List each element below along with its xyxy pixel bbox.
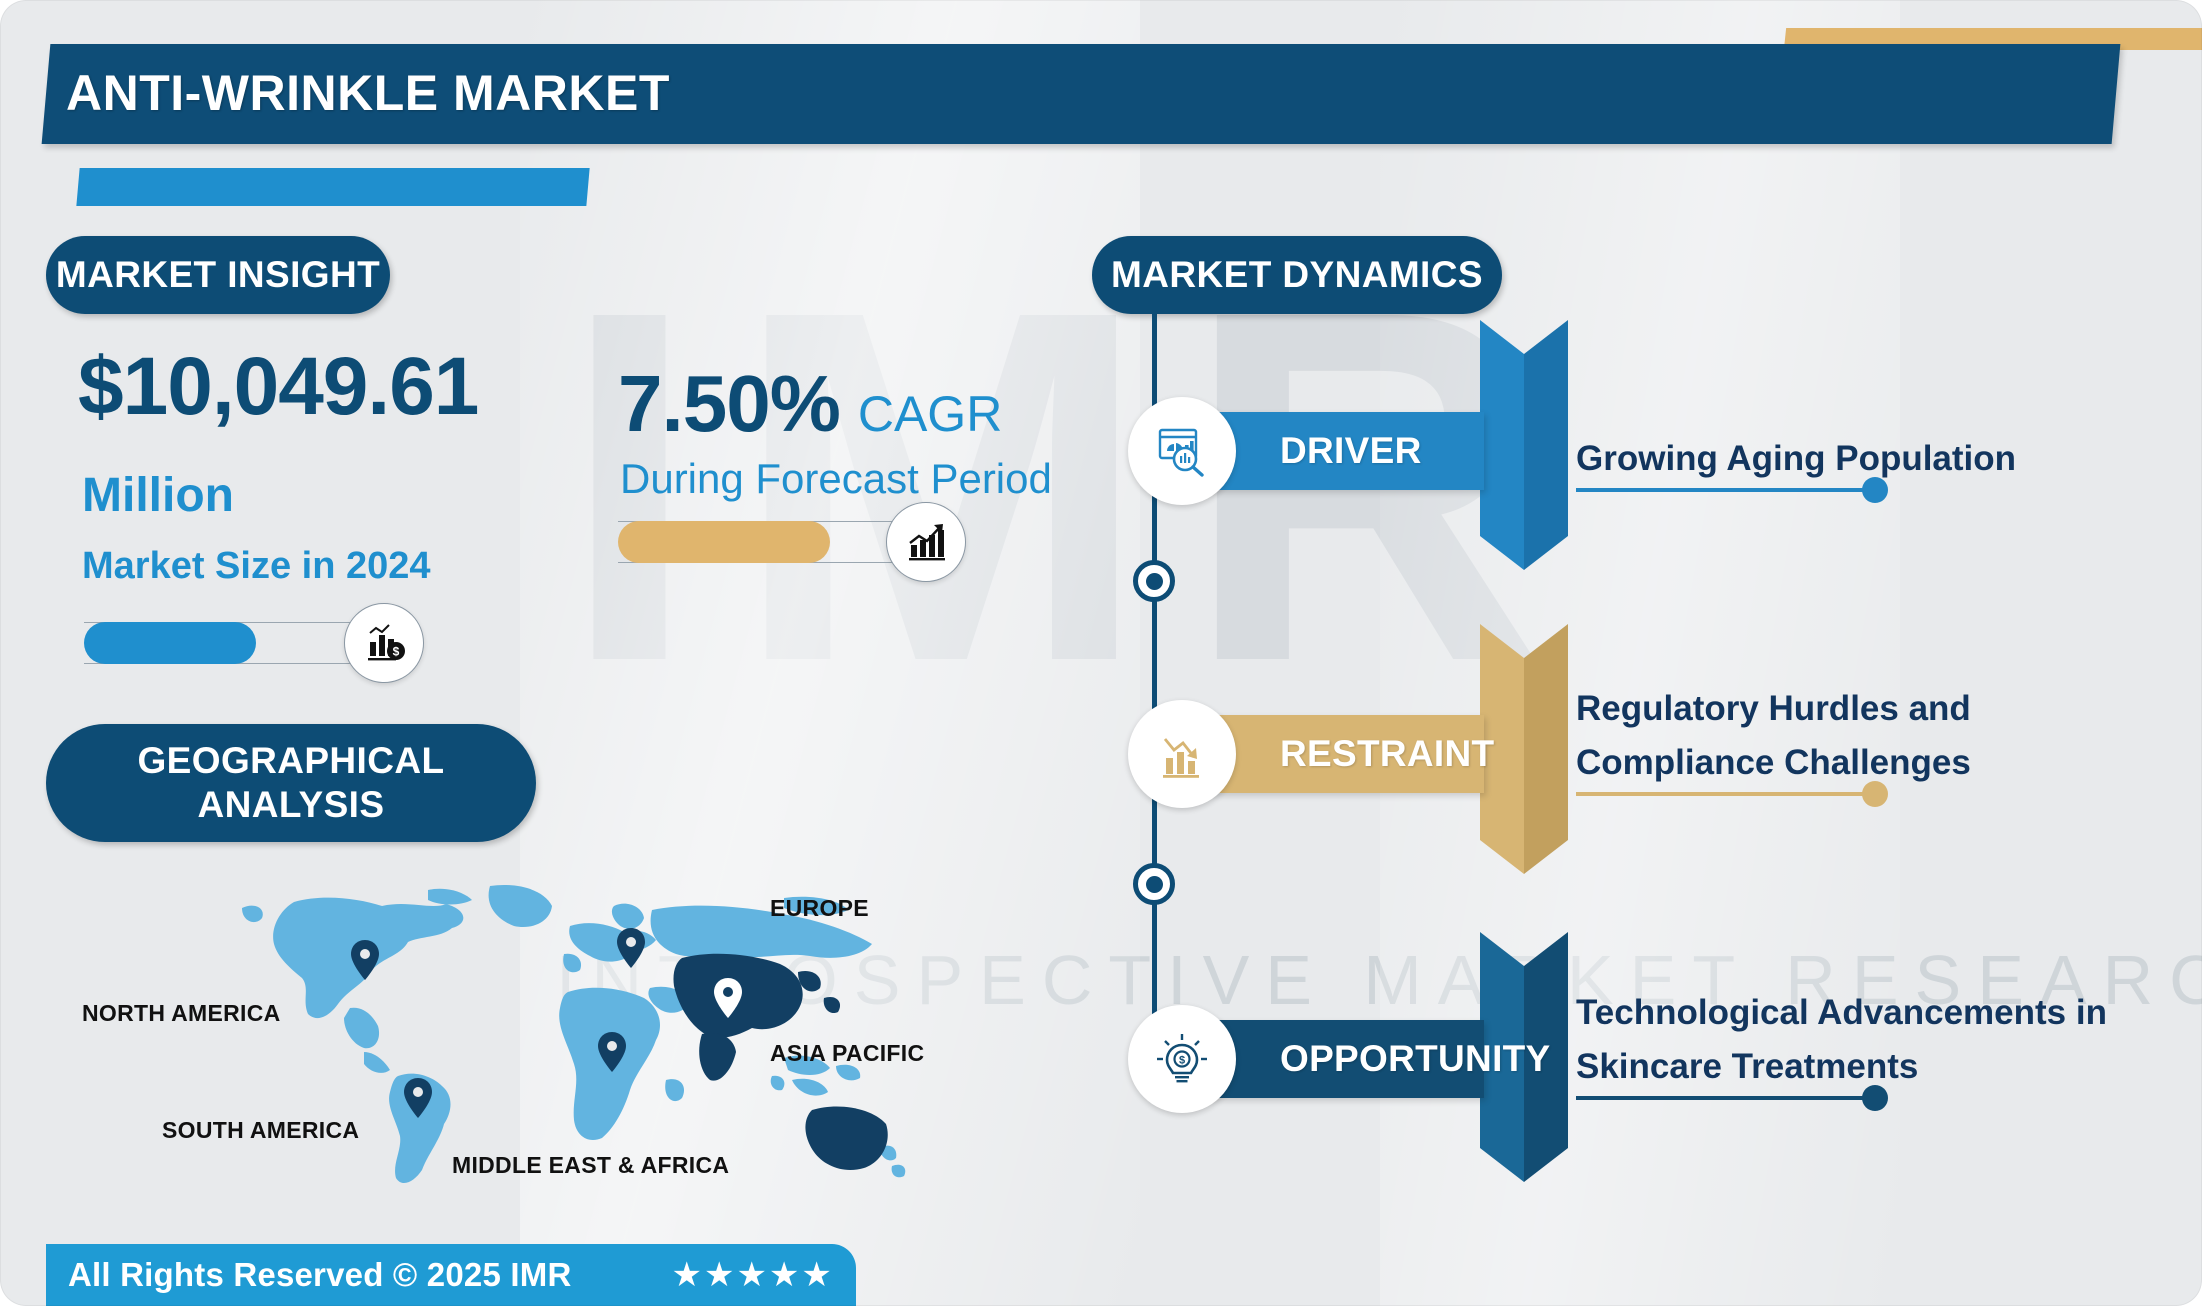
trending-up-chart-icon	[886, 502, 966, 582]
geo-badge-line2: ANALYSIS	[198, 783, 385, 827]
opportunity-label: OPPORTUNITY	[1280, 1038, 1551, 1080]
copyright-text: All Rights Reserved © 2025 IMR	[68, 1256, 571, 1294]
market-dynamics-badge: MARKET DYNAMICS	[1092, 236, 1502, 314]
driver-connector	[1576, 488, 1876, 492]
driver-chevron	[1480, 320, 1568, 575]
driver-endpoint-dot	[1862, 477, 1888, 503]
geo-badge-line1: GEOGRAPHICAL	[138, 739, 445, 783]
opportunity-bar[interactable]: $ OPPORTUNITY	[1172, 1020, 1484, 1098]
driver-label: DRIVER	[1280, 430, 1422, 472]
restraint-endpoint-dot	[1862, 781, 1888, 807]
bar-chart-dollar-icon: $	[344, 603, 424, 683]
cagr-label: CAGR	[858, 385, 1002, 443]
restraint-connector	[1576, 792, 1876, 796]
opportunity-text: Technological Advancements in Skincare T…	[1576, 986, 2136, 1094]
driver-text: Growing Aging Population	[1576, 432, 2136, 486]
infographic-canvas: IMR INTROSPECTIVE MARKET RESEARCH ANTI-W…	[0, 0, 2202, 1306]
opportunity-endpoint-dot	[1862, 1085, 1888, 1111]
geographical-analysis-badge: GEOGRAPHICAL ANALYSIS	[46, 724, 536, 842]
header-blue-accent	[76, 168, 589, 206]
market-size-unit: Million	[82, 468, 234, 523]
dynamics-node-2	[1133, 863, 1175, 905]
progress-fill	[84, 622, 256, 664]
map-label-north-america: NORTH AMERICA	[82, 1000, 281, 1027]
driver-bar[interactable]: DRIVER	[1172, 412, 1484, 490]
rating-stars: ★★★★★	[671, 1255, 833, 1295]
market-size-value: $10,049.61	[78, 340, 478, 434]
cagr-subcaption: During Forecast Period	[620, 455, 1052, 503]
market-size-caption: Market Size in 2024	[82, 545, 431, 588]
restraint-text: Regulatory Hurdles and Compliance Challe…	[1576, 682, 2016, 790]
svg-text:$: $	[1179, 1055, 1185, 1067]
analytics-magnifier-icon	[1128, 397, 1236, 505]
restraint-bar[interactable]: RESTRAINT	[1172, 715, 1484, 793]
map-label-south-america: SOUTH AMERICA	[162, 1117, 359, 1144]
market-insight-badge: MARKET INSIGHT	[46, 236, 390, 314]
page-title: ANTI-WRINKLE MARKET	[66, 62, 670, 124]
lightbulb-dollar-icon: $	[1128, 1005, 1236, 1113]
opportunity-connector	[1576, 1096, 1876, 1100]
footer-bar: All Rights Reserved © 2025 IMR ★★★★★	[46, 1244, 856, 1306]
cagr-headline: 7.50% CAGR	[618, 358, 1002, 450]
map-label-middle-east-africa: MIDDLE EAST & AFRICA	[452, 1152, 729, 1179]
svg-text:$: $	[393, 645, 400, 659]
restraint-label: RESTRAINT	[1280, 733, 1494, 775]
declining-bar-chart-icon	[1128, 700, 1236, 808]
progress-fill	[618, 521, 830, 563]
cagr-value: 7.50%	[618, 358, 840, 450]
map-label-europe: EUROPE	[770, 895, 869, 922]
map-label-asia-pacific: ASIA PACIFIC	[770, 1040, 924, 1067]
dynamics-node-1	[1133, 560, 1175, 602]
